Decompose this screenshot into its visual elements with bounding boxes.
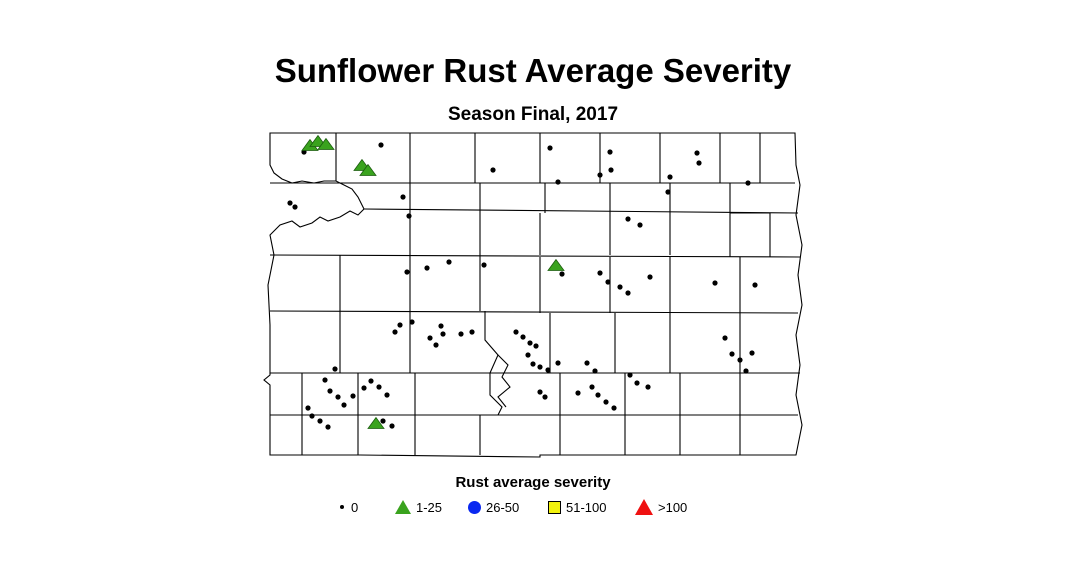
map-point-zero [322,377,327,382]
map-point-zero [400,194,405,199]
map-point-zero [729,351,734,356]
map-point-zero [341,402,346,407]
map-point-zero [575,390,580,395]
legend-entry-0: 0 [340,496,358,518]
map-point-zero [458,331,463,336]
map-point-zero [404,269,409,274]
map-point-zero [589,384,594,389]
map-point-zero [665,189,670,194]
map-point-zero [555,179,560,184]
legend-entry-1-25: 1-25 [395,496,442,518]
map-point-zero [424,265,429,270]
map-point-zero [597,270,602,275]
map-point-zero [446,259,451,264]
map-point-zero [559,271,564,276]
map-point-zero [694,150,699,155]
map-point-zero [292,204,297,209]
map-point-zero [380,418,385,423]
map-point-zero [597,172,602,177]
map-point-zero [350,393,355,398]
map-point-zero [384,392,389,397]
map-point-zero [605,279,610,284]
map-point-zero [433,342,438,347]
map-point-zero [438,323,443,328]
map-point-zero [555,360,560,365]
map-point-zero [722,335,727,340]
map-point-zero [427,335,432,340]
map-point-zero [603,399,608,404]
map-point-zero [545,367,550,372]
page-title: Sunflower Rust Average Severity [0,52,1066,90]
map-point-zero [647,274,652,279]
map-point-zero [409,319,414,324]
map-point-zero [667,174,672,179]
map-point-zero [317,418,322,423]
map-point-zero [743,368,748,373]
map-point-zero [389,423,394,428]
map-point-zero [392,329,397,334]
map-point-zero [537,389,542,394]
legend: 0 1-25 26-50 51-100 >100 [340,496,680,518]
map-point-zero [595,392,600,397]
map-point-zero [325,424,330,429]
map-point-zero [440,331,445,336]
red-triangle-icon [635,499,653,515]
legend-entry-51-100: 51-100 [548,496,606,518]
blue-circle-icon [468,501,481,514]
map-point-zero [627,372,632,377]
map-point-zero [376,384,381,389]
map-point-zero [607,149,612,154]
small-black-dot-icon [340,505,344,509]
map-point-zero [533,343,538,348]
map-point-zero [525,352,530,357]
map-point-zero [309,413,314,418]
map-point-zero [625,216,630,221]
map-point-zero [584,360,589,365]
map-point-zero [305,405,310,410]
map-svg [240,125,820,465]
map-point-zero [608,167,613,172]
map-point-zero [287,200,292,205]
county-outlines [264,133,802,457]
map-point-zero [520,334,525,339]
map-point-zero [361,385,366,390]
map-point-zero [537,364,542,369]
map-point-zero [637,222,642,227]
map-figure: Sunflower Rust Average Severity Season F… [0,0,1066,565]
legend-label-26-50: 26-50 [486,500,519,515]
map-point-zero [712,280,717,285]
legend-entry-gt100: >100 [635,496,687,518]
map-point-zero [490,167,495,172]
map-point-zero [634,380,639,385]
map-point-zero [645,384,650,389]
legend-title: Rust average severity [0,474,1066,491]
map-point-zero [542,394,547,399]
green-triangle-icon [395,500,411,514]
map-point-zero [745,180,750,185]
map-point-zero [469,329,474,334]
map-point-zero [530,361,535,366]
page-subtitle: Season Final, 2017 [0,104,1066,126]
map-point-zero [611,405,616,410]
map-point-zero [327,388,332,393]
map-point-zero [397,322,402,327]
map-point-zero [378,142,383,147]
map-point-zero [513,329,518,334]
map-point-zero [527,340,532,345]
map-point-zero [406,213,411,218]
map-point-zero [592,368,597,373]
map-point-zero [617,284,622,289]
map-point-zero [368,378,373,383]
map-point-zero [752,282,757,287]
legend-label-0: 0 [351,500,358,515]
legend-label-gt100: >100 [658,500,687,515]
map-point-zero [696,160,701,165]
map-point-zero [749,350,754,355]
legend-label-51-100: 51-100 [566,500,606,515]
legend-entry-26-50: 26-50 [468,496,519,518]
map-point-zero [335,394,340,399]
north-dakota-county-map [240,125,820,465]
yellow-square-icon [548,501,561,514]
map-point-zero [332,366,337,371]
map-point-zero [481,262,486,267]
map-point-zero [547,145,552,150]
map-point-zero [737,357,742,362]
map-point-zero [625,290,630,295]
legend-label-1-25: 1-25 [416,500,442,515]
